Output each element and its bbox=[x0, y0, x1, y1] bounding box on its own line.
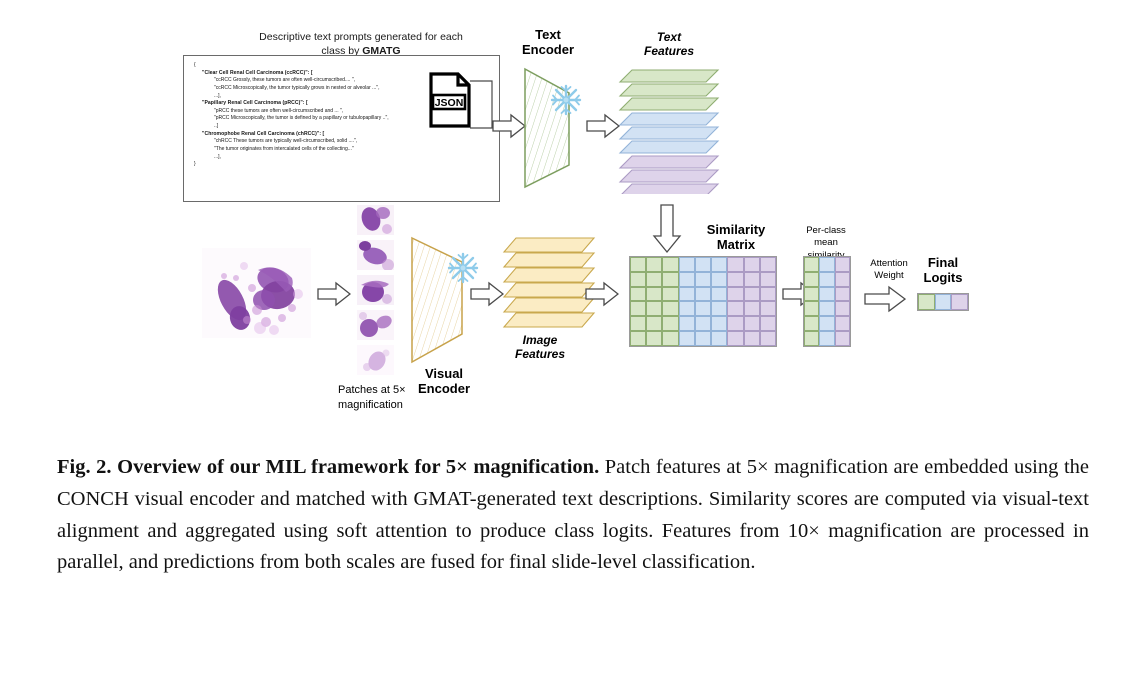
matrix-cell bbox=[727, 316, 743, 331]
json-close-brace: } bbox=[194, 161, 491, 169]
visual-encoder-label: Visual Encoder bbox=[405, 366, 483, 397]
matrix-cell bbox=[679, 257, 695, 272]
matrix-cell bbox=[662, 301, 678, 316]
text-features-label-line1: Text bbox=[657, 30, 681, 44]
matrix-cell bbox=[646, 287, 662, 302]
matrix-cell bbox=[695, 331, 711, 346]
patches-label-line2: magnification bbox=[338, 399, 403, 411]
matrix-cell bbox=[727, 301, 743, 316]
text-feature-plane bbox=[620, 170, 718, 182]
matrix-cell bbox=[630, 301, 646, 316]
figure-caption: Fig. 2. Overview of our MIL framework fo… bbox=[57, 452, 1089, 579]
matrix-cell bbox=[804, 287, 819, 302]
matrix-cell bbox=[679, 287, 695, 302]
prompt-header-line1: Descriptive text prompts generated for e… bbox=[259, 31, 463, 43]
matrix-cell bbox=[819, 301, 834, 316]
image-feature-plane bbox=[504, 238, 594, 252]
per-class-label-line1: Per-class bbox=[806, 225, 846, 236]
image-features-stack bbox=[502, 234, 598, 334]
matrix-cell bbox=[646, 272, 662, 287]
matrix-cell bbox=[760, 257, 776, 272]
patches-label-line1: Patches at 5× bbox=[338, 384, 406, 396]
matrix-cell bbox=[951, 294, 968, 310]
similarity-matrix-label-line2: Matrix bbox=[717, 237, 755, 252]
matrix-cell bbox=[835, 257, 850, 272]
matrix-cell bbox=[695, 301, 711, 316]
matrix-cell bbox=[819, 331, 834, 346]
arrow-to-image-features bbox=[470, 281, 504, 307]
matrix-cell bbox=[804, 257, 819, 272]
text-feature-plane bbox=[620, 156, 718, 168]
visual-encoder-label-line1: Visual bbox=[425, 366, 463, 381]
matrix-cell bbox=[727, 331, 743, 346]
text-encoder-label-line1: Text bbox=[535, 27, 561, 42]
text-encoder-label-line2: Encoder bbox=[522, 42, 574, 57]
patch-thumbnail bbox=[357, 240, 394, 270]
matrix-cell bbox=[835, 316, 850, 331]
matrix-cell bbox=[804, 331, 819, 346]
json-icon-label: JSON bbox=[435, 97, 464, 109]
matrix-cell bbox=[630, 331, 646, 346]
matrix-cell bbox=[804, 316, 819, 331]
matrix-cell bbox=[744, 287, 760, 302]
image-feature-plane bbox=[504, 313, 594, 327]
matrix-cell bbox=[711, 257, 727, 272]
matrix-cell bbox=[835, 331, 850, 346]
matrix-cell bbox=[804, 301, 819, 316]
text-feature-plane bbox=[620, 113, 718, 125]
arrow-to-patches bbox=[317, 281, 351, 307]
text-feature-plane bbox=[620, 84, 718, 96]
matrix-cell bbox=[744, 331, 760, 346]
attention-weight-label-line1: Attention bbox=[870, 258, 908, 269]
matrix-cell bbox=[760, 301, 776, 316]
text-feature-plane bbox=[620, 98, 718, 110]
matrix-cell bbox=[679, 301, 695, 316]
matrix-cell bbox=[727, 272, 743, 287]
text-feature-plane bbox=[620, 141, 718, 153]
matrix-cell bbox=[630, 287, 646, 302]
matrix-cell bbox=[711, 287, 727, 302]
matrix-cell bbox=[679, 272, 695, 287]
matrix-cell bbox=[646, 257, 662, 272]
final-logits-label: Final Logits bbox=[906, 255, 980, 286]
text-encoder-label: Text Encoder bbox=[508, 27, 588, 58]
image-feature-plane bbox=[504, 253, 594, 267]
text-feature-plane bbox=[620, 184, 718, 194]
patch-thumbnail bbox=[357, 275, 394, 305]
json-ellipsis: ...], bbox=[214, 154, 491, 162]
arrow-down-to-similarity-matrix bbox=[652, 204, 682, 254]
matrix-cell bbox=[918, 294, 935, 310]
matrix-cell bbox=[662, 331, 678, 346]
matrix-cell bbox=[835, 301, 850, 316]
text-feature-plane bbox=[620, 70, 718, 82]
matrix-cell bbox=[804, 272, 819, 287]
matrix-cell bbox=[695, 316, 711, 331]
matrix-cell bbox=[727, 287, 743, 302]
matrix-cell bbox=[835, 287, 850, 302]
matrix-cell bbox=[760, 272, 776, 287]
matrix-cell bbox=[630, 272, 646, 287]
matrix-cell bbox=[744, 301, 760, 316]
matrix-cell bbox=[662, 257, 678, 272]
image-feature-plane bbox=[504, 283, 594, 297]
snowflake-frozen-icon bbox=[549, 83, 583, 117]
per-class-label-line2: mean bbox=[814, 237, 838, 248]
matrix-cell bbox=[819, 287, 834, 302]
arrow-attention-weight bbox=[864, 285, 906, 313]
patch-thumbnail bbox=[357, 345, 394, 375]
text-features-label-line2: Features bbox=[644, 44, 694, 58]
whole-slide-image-thumbnail bbox=[202, 248, 311, 338]
image-feature-plane bbox=[504, 268, 594, 282]
image-features-label: Image Features bbox=[494, 333, 586, 361]
matrix-cell bbox=[935, 294, 952, 310]
matrix-cell bbox=[630, 316, 646, 331]
matrix-cell bbox=[760, 316, 776, 331]
similarity-matrix-label: Similarity Matrix bbox=[681, 222, 791, 253]
json-item: "chRCC These tumors are typically well-c… bbox=[214, 138, 491, 146]
text-feature-plane bbox=[620, 127, 718, 139]
matrix-cell bbox=[695, 257, 711, 272]
matrix-cell bbox=[679, 331, 695, 346]
matrix-cell bbox=[662, 316, 678, 331]
attention-weight-label-line2: Weight bbox=[874, 270, 903, 281]
similarity-matrix-grid bbox=[629, 256, 777, 347]
text-features-stack bbox=[618, 62, 722, 194]
matrix-cell bbox=[646, 316, 662, 331]
matrix-cell bbox=[835, 272, 850, 287]
matrix-cell bbox=[646, 301, 662, 316]
matrix-cell bbox=[819, 257, 834, 272]
arrow-to-similarity-matrix bbox=[585, 281, 619, 307]
json-open-brace: { bbox=[194, 62, 491, 70]
matrix-cell bbox=[819, 316, 834, 331]
matrix-cell bbox=[662, 287, 678, 302]
final-logits-label-line1: Final bbox=[928, 255, 958, 270]
json-class-name-chrcc: "Chromophobe Renal Cell Carcinoma (chRCC… bbox=[202, 131, 491, 139]
matrix-cell bbox=[744, 272, 760, 287]
matrix-cell bbox=[679, 316, 695, 331]
matrix-cell bbox=[727, 257, 743, 272]
final-logits-label-line2: Logits bbox=[924, 270, 963, 285]
json-file-icon: JSON bbox=[428, 72, 472, 128]
matrix-cell bbox=[662, 272, 678, 287]
matrix-cell bbox=[695, 287, 711, 302]
snowflake-frozen-icon bbox=[446, 251, 480, 285]
arrow-to-text-features bbox=[586, 113, 620, 139]
image-features-label-line2: Features bbox=[515, 347, 565, 361]
caption-bold-lead: Fig. 2. Overview of our MIL framework fo… bbox=[57, 456, 599, 478]
json-item: "The tumor originates from intercalated … bbox=[214, 146, 491, 154]
matrix-cell bbox=[711, 272, 727, 287]
matrix-cell bbox=[760, 287, 776, 302]
text-features-label: Text Features bbox=[624, 30, 714, 58]
matrix-cell bbox=[744, 257, 760, 272]
text-encoder-shape bbox=[517, 57, 577, 197]
patch-thumbnail bbox=[357, 205, 394, 235]
matrix-cell bbox=[711, 316, 727, 331]
matrix-cell bbox=[744, 316, 760, 331]
visual-encoder-label-line2: Encoder bbox=[418, 381, 470, 396]
similarity-matrix-label-line1: Similarity bbox=[707, 222, 766, 237]
matrix-cell bbox=[819, 272, 834, 287]
matrix-cell bbox=[630, 257, 646, 272]
matrix-cell bbox=[711, 331, 727, 346]
image-feature-plane bbox=[504, 298, 594, 312]
figure-diagram: Descriptive text prompts generated for e… bbox=[0, 0, 1145, 440]
final-logits-grid bbox=[917, 293, 969, 311]
patch-thumbnail bbox=[357, 310, 394, 340]
image-features-label-line1: Image bbox=[523, 333, 558, 347]
matrix-cell bbox=[695, 272, 711, 287]
matrix-cell bbox=[760, 331, 776, 346]
matrix-cell bbox=[711, 301, 727, 316]
matrix-cell bbox=[646, 331, 662, 346]
per-class-mean-grid bbox=[803, 256, 851, 347]
